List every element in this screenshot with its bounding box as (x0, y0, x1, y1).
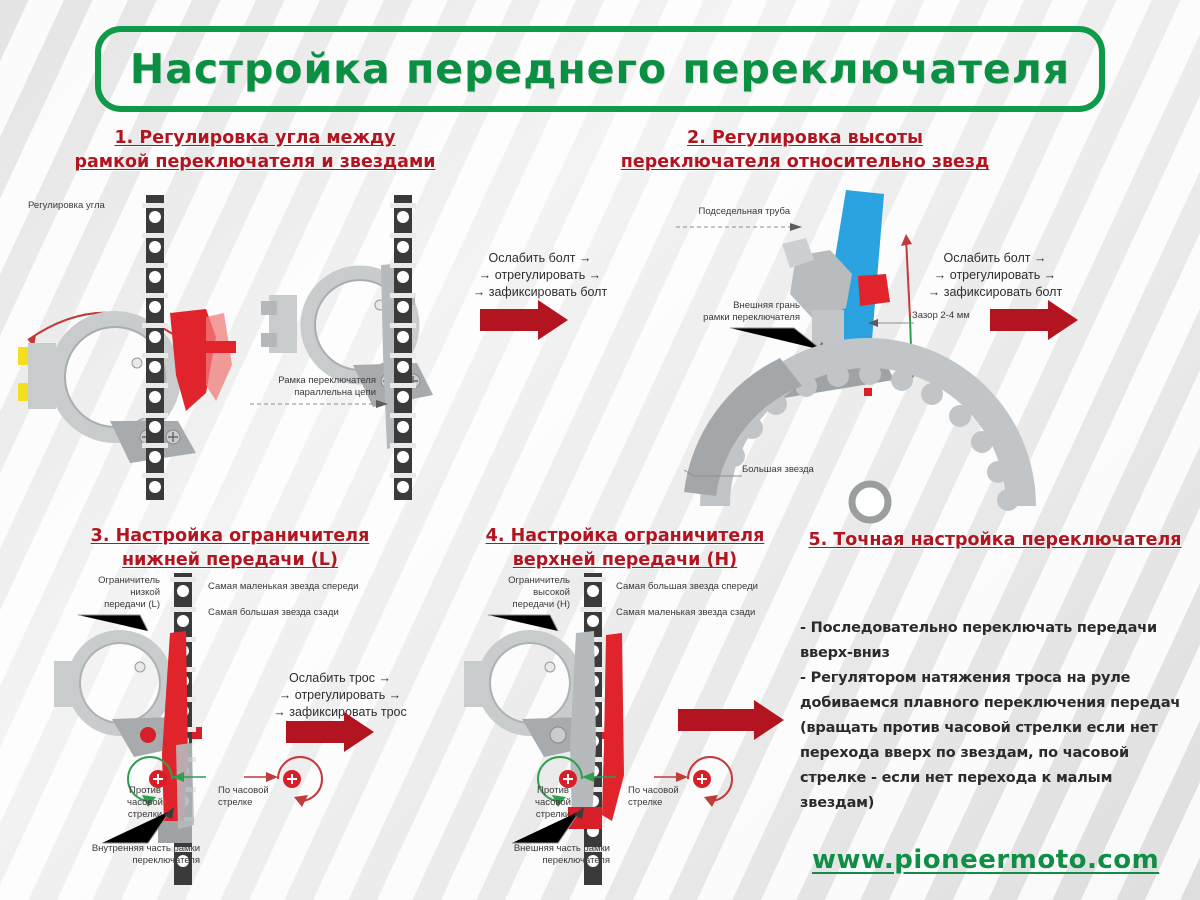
step4-arrow-icon (678, 700, 788, 740)
step1-illustration: Регулировка угла (0, 190, 600, 510)
label-frame-parallel: Рамка переключателя параллельна цепи (236, 375, 376, 399)
step5-heading-text: 5. Точная настройка переключателя (808, 530, 1181, 550)
step2-instruction: Ослабить болт → → отрегулировать → → заф… (890, 250, 1100, 301)
label-low-limiter: Ограничитель низкой передачи (L) (60, 575, 160, 611)
step1-heading-line1: 1. Регулировка угла между (114, 128, 395, 148)
label-front-gear-low: Самая маленькая звезда спереди (208, 581, 359, 593)
step2-heading: 2. Регулировка высоты переключателя отно… (585, 126, 1025, 174)
step5-body-text: - Последовательно переключать передачи в… (800, 616, 1190, 816)
label-outer-edge: Внешняя грань рамки переключателя (670, 300, 800, 324)
label-cw-step3: По часовой стрелке (218, 785, 308, 809)
step2-heading-line1: 2. Регулировка высоты (687, 128, 923, 148)
label-big-chainring-leader (680, 470, 746, 484)
label-frame-parallel-leader (250, 398, 390, 410)
label-cw-step4: По часовой стрелке (628, 785, 718, 809)
step2-heading-line2: переключателя относительно звезд (621, 152, 989, 172)
label-outer-part-leader (510, 805, 600, 847)
step3-arrow-icon (286, 712, 376, 752)
label-front-gear-high: Самая большая звезда спереди (616, 581, 758, 593)
label-inner-part-leader (100, 805, 190, 847)
step3-heading-line1: 3. Настройка ограничителя (91, 526, 370, 546)
label-rear-gear-low: Самая большая звезда сзади (208, 607, 339, 619)
chain-right (388, 195, 418, 500)
label-big-chainring: Большая звезда (742, 464, 814, 476)
derailleur-diagram-right (255, 235, 455, 485)
step1-heading-line2: рамкой переключателя и звездами (74, 152, 435, 172)
label-high-limiter: Ограничитель высокой передачи (H) (470, 575, 570, 611)
step5-heading: 5. Точная настройка переключателя (800, 528, 1190, 552)
label-gap-leader (868, 318, 916, 330)
derailleur-diagram-left (10, 225, 260, 475)
chain-left (140, 195, 170, 500)
step2-illustration: Подседельная труба Внешняя грань рамки п… (620, 190, 1200, 510)
step4-heading-line1: 4. Настройка ограничителя (486, 526, 765, 546)
step1-instruction: Ослабить болт → → отрегулировать → → заф… (440, 250, 640, 301)
page-title: Настройка переднего переключателя (130, 45, 1070, 93)
step2-arrow-icon (990, 300, 1080, 340)
title-banner: Настройка переднего переключателя (95, 26, 1105, 112)
step1-heading: 1. Регулировка угла между рамкой переклю… (35, 126, 475, 174)
step1-arrow-icon (480, 300, 570, 340)
label-rear-gear-high: Самая маленькая звезда сзади (616, 607, 755, 619)
label-gap: Зазор 2-4 мм (912, 310, 970, 322)
label-angle-adjust: Регулировка угла (28, 200, 105, 212)
site-url-link[interactable]: www.pioneermoto.com (812, 845, 1159, 875)
